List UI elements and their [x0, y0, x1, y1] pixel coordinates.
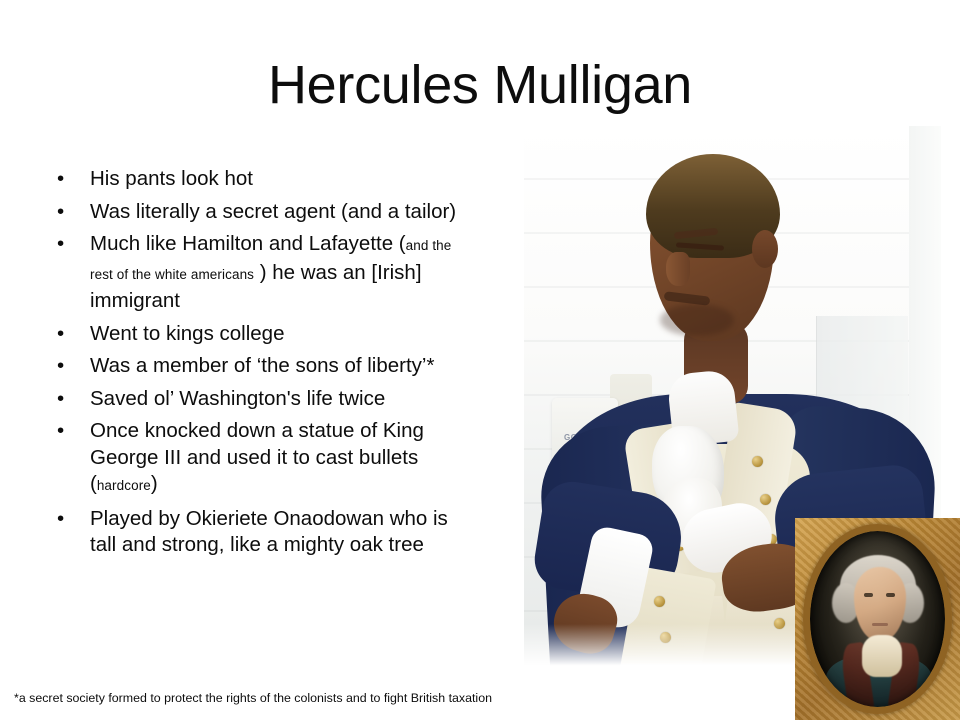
list-item-label-small: hardcore — [97, 478, 151, 493]
bullet-dot-icon: • — [57, 386, 64, 413]
slide-canvas: Hercules Mulligan • His pants look hot •… — [0, 0, 960, 720]
frame-inner-ring — [803, 524, 952, 714]
gold-button — [760, 494, 771, 505]
nose — [666, 252, 690, 286]
list-item-label: Played by Okieriete Onaodowan who is tal… — [90, 506, 468, 559]
hercules-mulligan-oil-portrait — [795, 518, 960, 720]
gold-button — [654, 596, 665, 607]
bullet-dot-icon: • — [57, 321, 64, 348]
ear — [752, 230, 778, 268]
bullet-dot-icon: • — [57, 506, 64, 533]
list-item-label: His pants look hot — [90, 166, 468, 193]
bullet-dot-icon: • — [57, 231, 64, 258]
list-item-kings-college: • Went to kings college — [48, 321, 468, 348]
list-item-label-tail: ) — [151, 472, 158, 495]
list-item-secret-agent: • Was literally a secret agent (and a ta… — [48, 199, 468, 226]
bullet-dot-icon: • — [57, 166, 64, 193]
list-item-label: Once knocked down a statue of King Georg… — [90, 418, 468, 500]
list-item-label-lead: Much like Hamilton and Lafayette ( — [90, 232, 406, 255]
list-item-statue: • Once knocked down a statue of King Geo… — [48, 418, 468, 500]
bullet-dot-icon: • — [57, 199, 64, 226]
bullet-list: • His pants look hot • Was literally a s… — [48, 166, 468, 565]
page-title: Hercules Mulligan — [0, 56, 960, 114]
list-item-label: Was a member of ‘the sons of liberty’* — [90, 353, 468, 380]
list-item-label: Much like Hamilton and Lafayette (and th… — [90, 231, 468, 315]
list-item-immigrant: • Much like Hamilton and Lafayette (and … — [48, 231, 468, 315]
list-item-label: Saved ol’ Washington's life twice — [90, 386, 468, 413]
list-item-label: Was literally a secret agent (and a tail… — [90, 199, 468, 226]
gold-button — [752, 456, 763, 467]
chin-shadow — [660, 304, 734, 336]
bullet-dot-icon: • — [57, 353, 64, 380]
list-item-sons-of-liberty: • Was a member of ‘the sons of liberty’* — [48, 353, 468, 380]
list-item-pants: • His pants look hot — [48, 166, 468, 193]
list-item-okieriete: • Played by Okieriete Onaodowan who is t… — [48, 506, 468, 559]
list-item-label: Went to kings college — [90, 321, 468, 348]
list-item-saved-washington: • Saved ol’ Washington's life twice — [48, 386, 468, 413]
bullet-dot-icon: • — [57, 418, 64, 445]
footnote-text: *a secret society formed to protect the … — [14, 690, 654, 706]
